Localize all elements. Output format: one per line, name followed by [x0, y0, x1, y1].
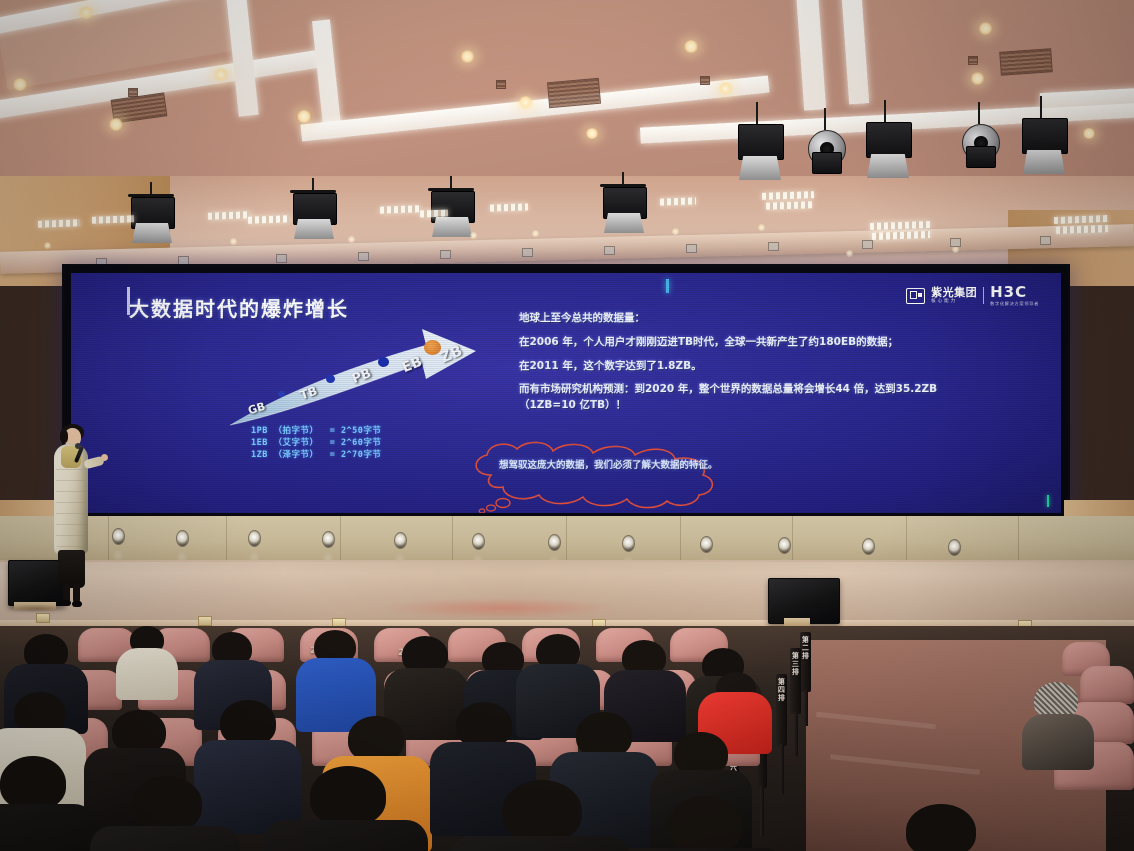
wall-downlight [758, 224, 765, 231]
wall-spot-square [358, 252, 369, 261]
wall-strip-light [420, 210, 448, 218]
thought-cloud-text: 想驾驭这庞大的数据，我们必须了解大数据的特征。 [499, 459, 719, 473]
wall-downlight [846, 250, 853, 257]
presentation-slide[interactable]: 大数据时代的爆炸增长 紫光集团 核心能力 H3C 数字化解决方案领导者 [71, 273, 1061, 513]
thought-cloud-svg [451, 441, 781, 513]
growth-arrow-svg [226, 321, 526, 431]
led-screen-frame: 大数据时代的爆炸增长 紫光集团 核心能力 H3C 数字化解决方案领导者 [62, 264, 1070, 528]
ceiling-downlight [213, 68, 229, 81]
wall-seam [1018, 516, 1019, 562]
person-head [0, 756, 66, 810]
unisplendour-logo-mark-icon [906, 288, 925, 304]
ceiling-downlight [12, 78, 28, 91]
wall-speaker-grille [472, 533, 485, 550]
wall-strip-light [490, 203, 528, 211]
presenter-coat-quilting [56, 458, 86, 552]
row-sign-pole [794, 712, 798, 756]
wall-strip-light [38, 219, 80, 227]
wall-strip-light [92, 215, 134, 223]
presenter-shoe [61, 600, 71, 606]
stage-floor-red-reflection [380, 598, 620, 618]
body-paragraph-1: 在2006 年，个人用户才刚刚迈进TB时代，全球一共新产生了约180EB的数据； [519, 335, 949, 351]
wall-speaker-grille [948, 539, 961, 556]
ceiling-downlight [970, 72, 985, 85]
ceiling-vent [999, 48, 1053, 76]
ceiling-downlight [978, 22, 993, 35]
speaker-base-right [784, 618, 810, 626]
presenter-shoe [72, 601, 82, 607]
row-sign-pole [780, 744, 784, 794]
arrow-node-blue [278, 391, 285, 397]
presenter-hand [101, 454, 108, 461]
ceiling-downlight [460, 50, 475, 63]
data-unit-list: 1PB （拍字节） = 2^50字节 1EB （艾字节） = 2^60字节 1Z… [251, 425, 381, 461]
row-sign-pole [804, 690, 808, 726]
stage-floor-marker [36, 613, 50, 623]
stage-back-wall [0, 516, 1134, 562]
wall-seam [680, 516, 681, 562]
light-barn-door [604, 213, 644, 233]
ceiling-sprinkler [700, 76, 710, 85]
person-head [132, 776, 202, 832]
light-body [966, 146, 996, 168]
ceiling-downlight [296, 110, 312, 123]
light-barn-door [432, 217, 472, 237]
thought-cloud: 想驾驭这庞大的数据，我们必须了解大数据的特征。 [451, 441, 781, 513]
wall-speaker-grille [322, 531, 335, 548]
ceiling-downlight [1082, 128, 1096, 139]
light-hanger [884, 100, 886, 122]
wall-speaker-grille [112, 528, 125, 545]
wall-strip-light [380, 205, 420, 213]
light-hanger [978, 102, 980, 124]
light-hanger [756, 102, 758, 124]
person-head [668, 796, 742, 851]
brand-chinese-name: 紫光集团 核心能力 [931, 287, 977, 304]
body-heading: 地球上至今总共的数据量： [519, 311, 949, 327]
arrow-node-blue [326, 375, 335, 383]
arrow-node-orange [424, 340, 441, 355]
person-body [90, 826, 240, 851]
wall-seam [792, 516, 793, 562]
row-sign-label: 第二排 [801, 636, 808, 660]
wall-spot-square [1040, 236, 1051, 245]
wall-seam [566, 516, 567, 562]
wall-speaker-grille [622, 535, 635, 552]
row-sign-pole [760, 786, 764, 836]
wall-downlight [532, 230, 539, 237]
person-body [1022, 714, 1094, 770]
wall-speaker-grille [862, 538, 875, 555]
person-body [0, 804, 96, 851]
wall-strip-light [660, 197, 696, 205]
wall-spot-square [768, 242, 779, 251]
wall-strip-light [208, 211, 250, 219]
wall-spot-square [862, 240, 873, 249]
wall-downlight [348, 236, 355, 243]
ceiling-light-panel [796, 0, 826, 111]
lecture-hall-screenshot: 大数据时代的爆炸增长 紫光集团 核心能力 H3C 数字化解决方案领导者 [0, 0, 1134, 851]
screen-blue-led [666, 279, 669, 293]
wall-speaker-grille [248, 530, 261, 547]
microphone-head [75, 443, 81, 449]
wall-downlight [952, 246, 959, 253]
wall-spot-square [440, 250, 451, 259]
wall-downlight [672, 228, 679, 235]
ceiling-downlight [108, 118, 124, 131]
ceiling-sprinkler [496, 80, 506, 89]
person-head [310, 766, 386, 826]
wall-seam [906, 516, 907, 562]
growth-arrow-graphic: GB TB PB EB ZB [226, 321, 526, 431]
ceiling-downlight [518, 96, 533, 109]
ceiling-light-panel [841, 0, 869, 105]
slide-body-text: 地球上至今总共的数据量： 在2006 年，个人用户才刚刚迈进TB时代，全球一共新… [519, 311, 949, 422]
seat-empty[interactable] [1080, 666, 1134, 704]
wall-spot-square [522, 248, 533, 257]
brand-h3c-tagline: 数字化解决方案领导者 [990, 302, 1039, 306]
person-body [450, 836, 630, 851]
ceiling-downlight [683, 40, 699, 53]
wall-downlight [470, 232, 477, 239]
wall-spot-square [686, 244, 697, 253]
light-barn-door [739, 156, 781, 180]
wall-spot-square [276, 254, 287, 263]
light-body [1022, 118, 1068, 154]
wall-spot-square [950, 238, 961, 247]
ceiling-light-panel [312, 19, 342, 136]
row-sign-label: 第四排 [777, 678, 784, 702]
wall-speaker-grille [548, 534, 561, 551]
wall-seam [340, 516, 341, 562]
wall-spot-square [604, 246, 615, 255]
light-body [812, 152, 842, 174]
brand-h3c: H3C 数字化解决方案领导者 [990, 285, 1039, 306]
ceiling-vent [547, 78, 601, 108]
light-barn-door [867, 154, 909, 178]
brand-logo: 紫光集团 核心能力 H3C 数字化解决方案领导者 [906, 285, 1039, 306]
wall-downlight [44, 242, 51, 249]
row-sign-label: 第三排 [791, 652, 798, 676]
screen-green-led [1047, 495, 1049, 507]
ceiling-sprinkler [128, 88, 138, 97]
person-body [264, 820, 428, 851]
person-head [906, 804, 976, 851]
presenter-hair-side [60, 430, 68, 443]
light-body [738, 124, 784, 160]
wall-strip-light [248, 215, 290, 223]
ceiling-downlight [78, 6, 94, 19]
slide-title: 大数据时代的爆炸增长 [129, 293, 349, 322]
light-hanger [1040, 96, 1042, 118]
light-hanger [824, 108, 826, 130]
ceiling-sprinkler [968, 56, 978, 65]
body-paragraph-2: 在2011 年，这个数字达到了1.8ZB。 [519, 359, 949, 375]
presenter [44, 424, 106, 610]
brand-chinese-label: 紫光集团 [931, 286, 977, 299]
ceiling-downlight [585, 128, 599, 139]
wall-downlight [230, 238, 237, 245]
wall-speaker-grille [176, 530, 189, 547]
stage-floor-marker [198, 616, 212, 626]
light-barn-door [294, 219, 334, 239]
ceiling [0, 0, 1134, 196]
wall-seam [108, 516, 109, 562]
wall-speaker-grille [700, 536, 713, 553]
wall-speaker-grille [394, 532, 407, 549]
audience-area: 第二排 第三排 第四排 第五排 第六排 21 23 19 10 [0, 626, 1134, 851]
body-paragraph-3: 而有市场研究机构预测：到2020 年，整个世界的数据总量将会增长44 倍，达到3… [519, 382, 949, 414]
light-barn-door [1023, 150, 1065, 174]
brand-chinese-tagline: 核心能力 [931, 300, 977, 305]
arrow-node-blue [378, 357, 389, 367]
light-body [866, 122, 912, 158]
wall-seam [226, 516, 227, 562]
person-body [116, 648, 178, 700]
presenter-skirt [58, 550, 85, 588]
light-barn-door [132, 223, 172, 243]
brand-h3c-label: H3C [990, 283, 1027, 301]
wall-speaker-grille [778, 537, 791, 554]
presenter-leg [73, 584, 80, 602]
wall-seam [452, 516, 453, 562]
ceiling-downlight [718, 82, 733, 95]
logo-divider [983, 287, 984, 304]
person-head [502, 780, 582, 842]
